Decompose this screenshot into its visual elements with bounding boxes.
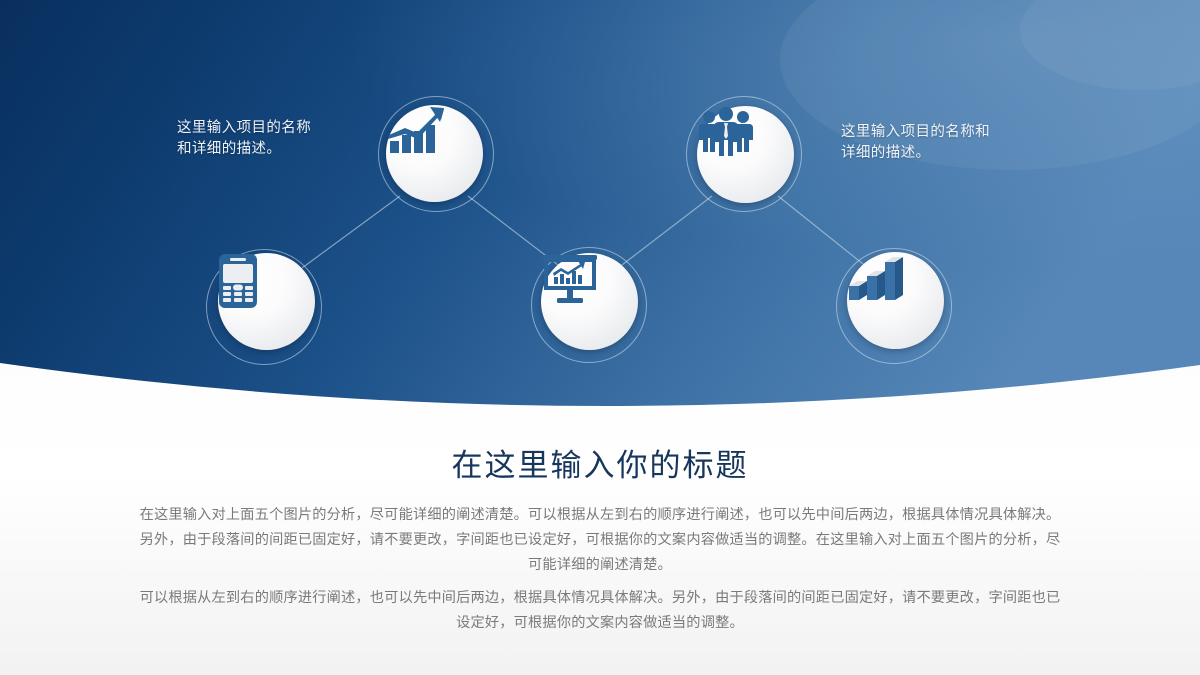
team-people-icon bbox=[697, 106, 755, 156]
body-paragraph-2: 可以根据从左到右的顺序进行阐述，也可以先中间后两边，根据具体情况具体解决。另外，… bbox=[135, 586, 1065, 636]
caption-left: 这里输入项目的名称 和详细的描述。 bbox=[177, 118, 387, 160]
node-disc bbox=[386, 105, 483, 202]
node-team-people[interactable] bbox=[686, 96, 802, 212]
node-disc bbox=[847, 252, 944, 349]
node-presentation-screen[interactable] bbox=[531, 245, 647, 361]
page-title: 在这里输入你的标题 bbox=[0, 447, 1200, 485]
growth-chart-icon bbox=[386, 105, 446, 157]
node-mobile-phone[interactable] bbox=[208, 245, 324, 361]
top-blue-panel: 这里输入项目的名称 和详细的描述。 这里输入项目的名称和 详细的描述。 bbox=[0, 0, 1200, 425]
slide-canvas: 这里输入项目的名称 和详细的描述。 这里输入项目的名称和 详细的描述。 在这里输… bbox=[0, 0, 1200, 675]
caption-right: 这里输入项目的名称和 详细的描述。 bbox=[841, 122, 1071, 164]
node-growth-chart[interactable] bbox=[376, 96, 492, 212]
node-disc bbox=[218, 253, 315, 350]
node-disc bbox=[541, 253, 638, 350]
bar-chart-3d-icon bbox=[847, 252, 907, 304]
mobile-phone-icon bbox=[218, 253, 258, 309]
presentation-screen-icon bbox=[541, 253, 599, 305]
bottom-text-block: 在这里输入你的标题 在这里输入对上面五个图片的分析，尽可能详细的阐述清楚。可以根… bbox=[0, 430, 1200, 675]
node-bar-chart-3d[interactable] bbox=[836, 245, 952, 361]
body-paragraph-1: 在这里输入对上面五个图片的分析，尽可能详细的阐述清楚。可以根据从左到右的顺序进行… bbox=[135, 503, 1065, 578]
node-disc bbox=[697, 106, 794, 203]
